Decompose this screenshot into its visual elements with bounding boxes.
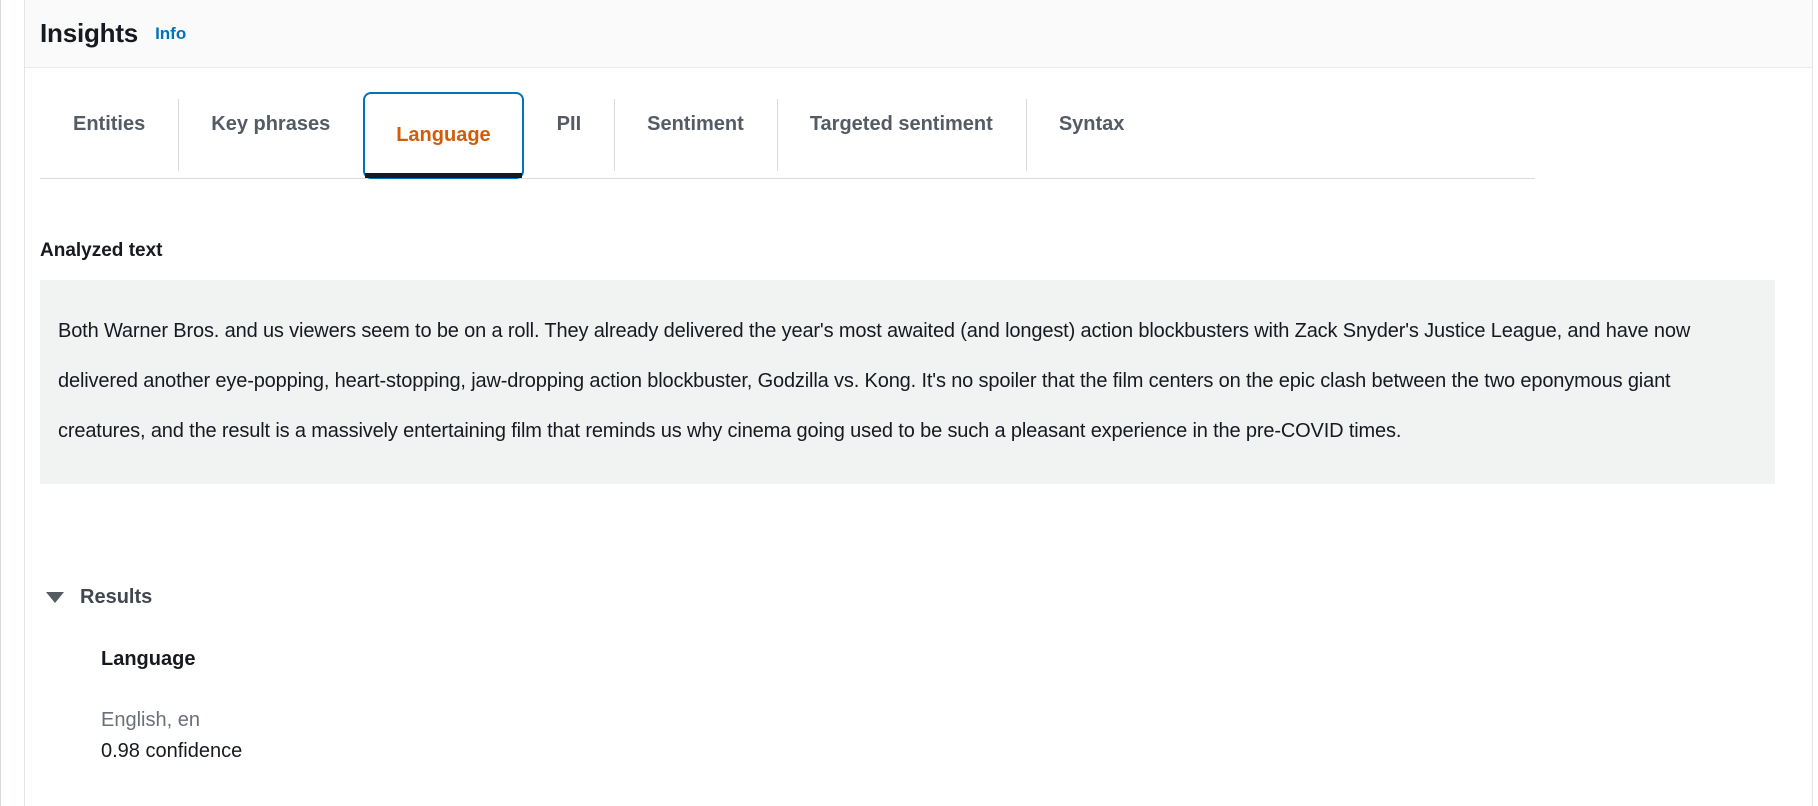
result-key-label: Language — [101, 648, 242, 671]
window-left-edge — [0, 0, 1, 806]
info-link[interactable]: Info — [155, 24, 186, 44]
tab-pii[interactable]: PII — [524, 69, 614, 179]
analyzed-text-box: Both Warner Bros. and us viewers seem to… — [40, 280, 1775, 484]
analyzed-text-content: Both Warner Bros. and us viewers seem to… — [58, 306, 1757, 456]
panel-right-border — [1812, 0, 1813, 806]
result-confidence: 0.98 confidence — [101, 736, 242, 767]
tabs-container: Entities Key phrases Language PII Sentim… — [25, 69, 1812, 181]
results-title: Results — [80, 586, 152, 609]
chevron-down-icon — [46, 592, 64, 603]
tab-language[interactable]: Language — [363, 92, 523, 179]
tab-key-phrases[interactable]: Key phrases — [178, 69, 363, 179]
tab-targeted-sentiment[interactable]: Targeted sentiment — [777, 69, 1026, 179]
page-title: Insights — [40, 18, 138, 49]
tab-entities[interactable]: Entities — [40, 69, 178, 179]
panel-header: Insights Info — [25, 0, 1812, 68]
tab-sentiment[interactable]: Sentiment — [614, 69, 777, 179]
analyzed-text-label: Analyzed text — [40, 240, 162, 262]
tab-list: Entities Key phrases Language PII Sentim… — [40, 69, 1157, 179]
result-language-name: English, en — [101, 705, 242, 736]
results-disclosure[interactable]: Results — [46, 586, 152, 609]
tab-syntax[interactable]: Syntax — [1026, 69, 1158, 179]
insights-panel: Insights Info Entities Key phrases Langu… — [0, 0, 1818, 806]
results-body: Language English, en 0.98 confidence — [101, 648, 242, 767]
